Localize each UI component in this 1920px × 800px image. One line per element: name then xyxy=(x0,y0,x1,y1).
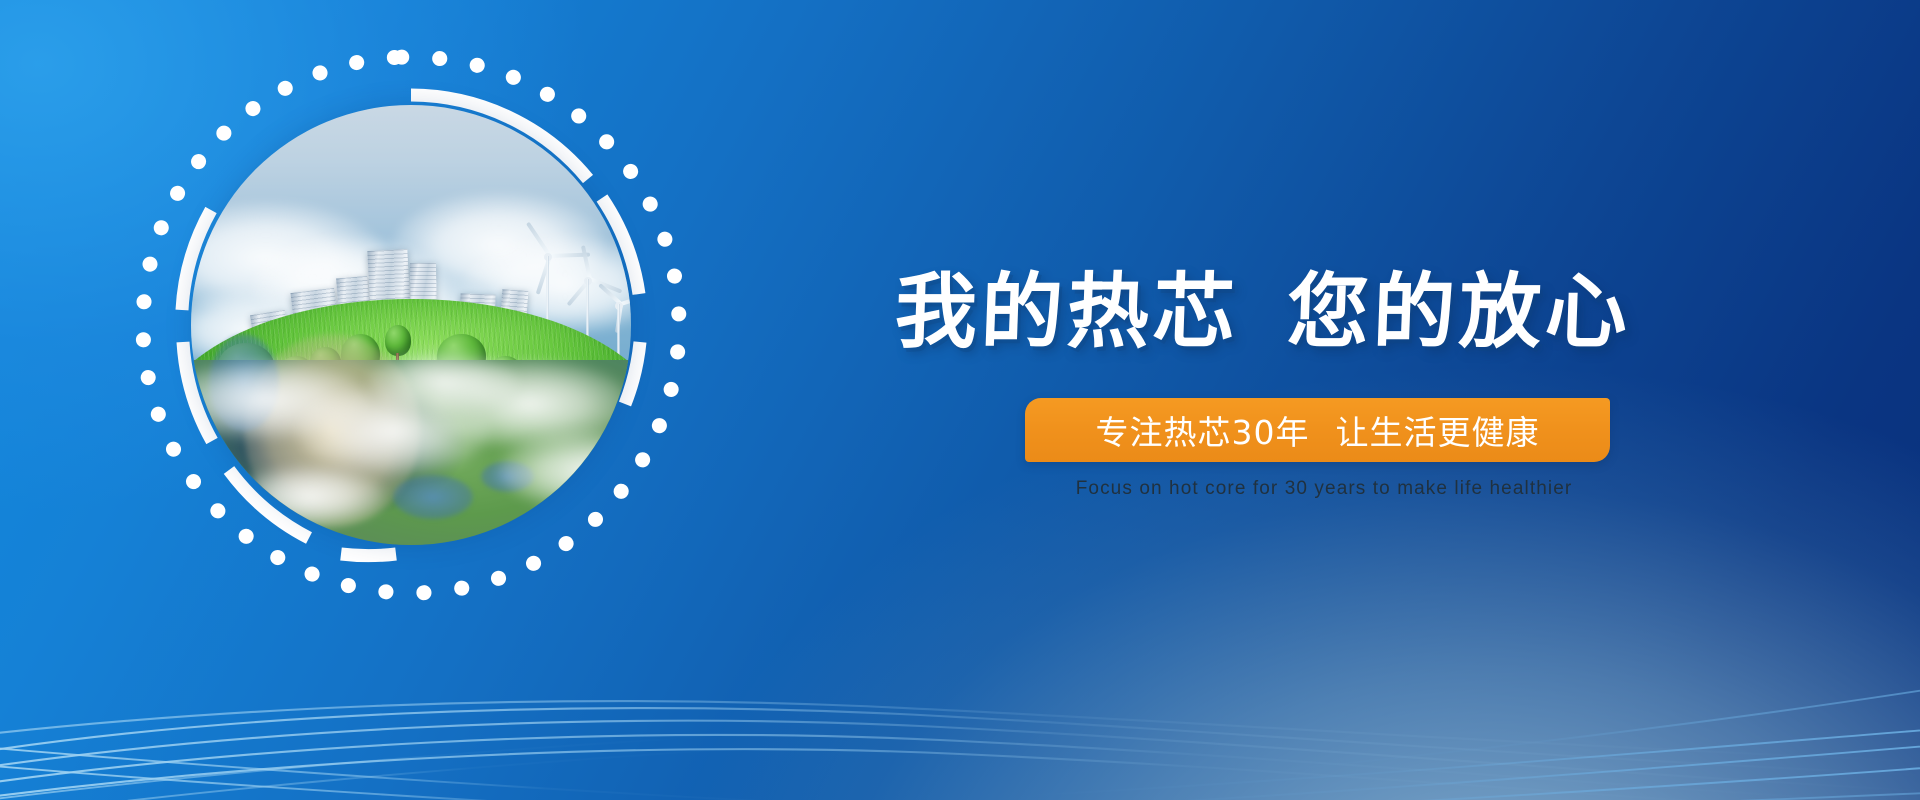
headline-part-1: 我的热芯 xyxy=(893,265,1240,360)
tagline-part-2: 让生活更健康 xyxy=(1336,413,1540,452)
green-earth-globe-icon xyxy=(191,105,631,545)
tagline-text: 专注热芯30年让生活更健康 xyxy=(1096,406,1540,454)
globe-graphic xyxy=(128,42,694,608)
headline-part-2: 您的放心 xyxy=(1285,265,1632,360)
hero-banner: 我的热芯您的放心 专注热芯30年让生活更健康 Focus on hot core… xyxy=(0,0,1920,800)
tagline-part-1: 专注热芯30年 xyxy=(1096,413,1310,452)
tagline-badge: 专注热芯30年让生活更健康 xyxy=(1025,398,1610,462)
page-title: 我的热芯您的放心 xyxy=(894,272,1747,354)
subtitle-english: Focus on hot core for 30 years to make l… xyxy=(1064,478,1584,500)
